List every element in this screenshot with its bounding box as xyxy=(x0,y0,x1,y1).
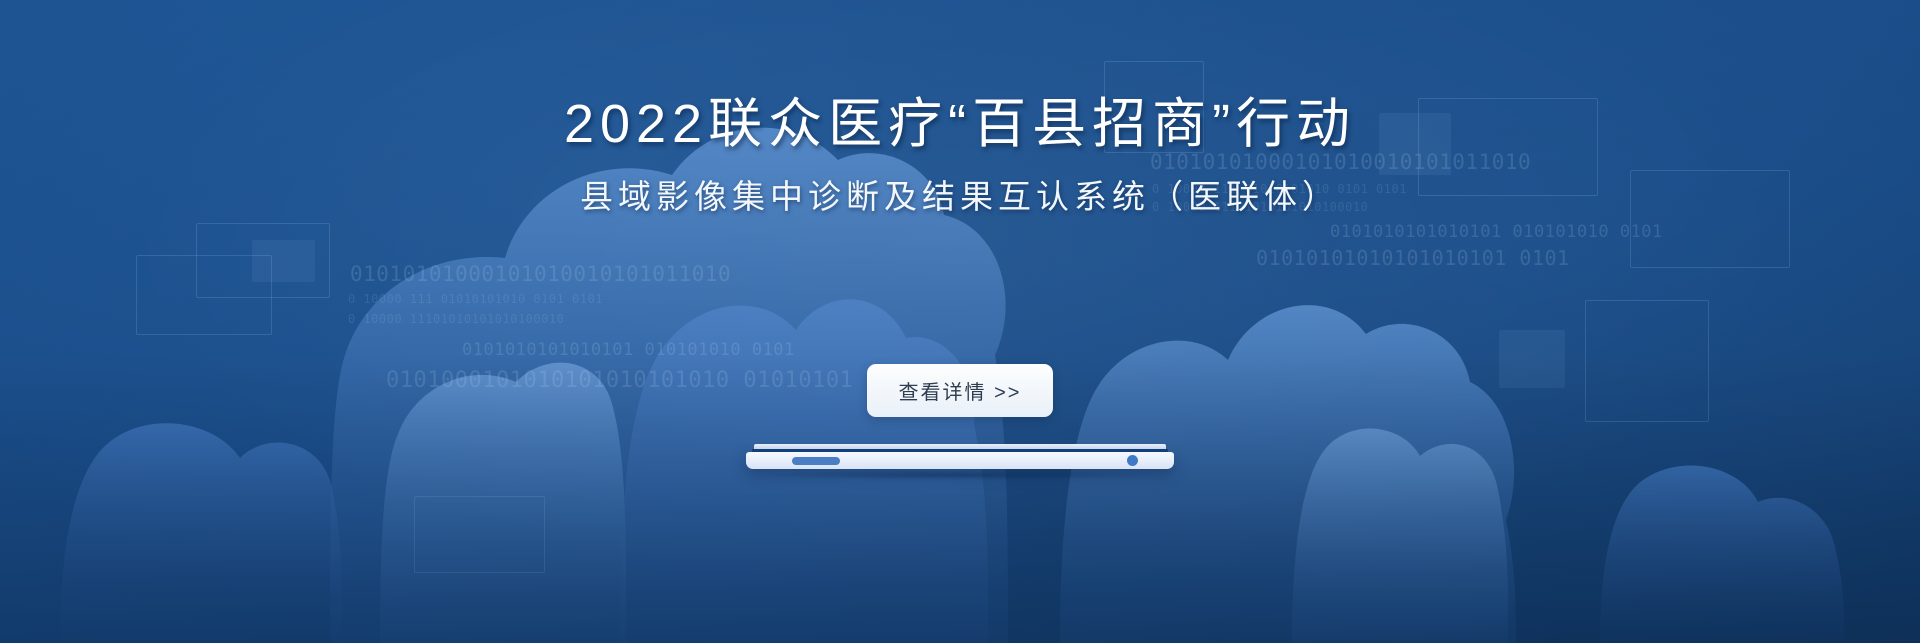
cloud-right-small xyxy=(1292,428,1508,643)
deco-square-left xyxy=(252,240,315,282)
cloud-left-low xyxy=(60,423,342,643)
deco-rect-left-upper xyxy=(196,223,330,298)
binary-decoration-10: 01010101010101010101 0101 xyxy=(1256,246,1570,270)
laptop-indicator-dot xyxy=(1127,455,1138,466)
binary-decoration-2: 0 10000 111 01010101010 0101 0101 xyxy=(348,292,603,306)
binary-decoration-1: 01010101000101010010101011010 xyxy=(350,262,731,286)
laptop-shadow xyxy=(760,470,1160,480)
banner-text-block: 2022联众医疗“百县招商”行动 县域影像集中诊断及结果互认系统（医联体） xyxy=(0,96,1920,215)
binary-decoration-4: 0101010101010101 010101010 0101 xyxy=(462,340,795,360)
laptop-illustration xyxy=(746,444,1174,478)
deco-rect-left-lower xyxy=(136,255,272,335)
binary-decoration-9: 0101010101010101 010101010 0101 xyxy=(1330,222,1663,242)
laptop-indicator-bar xyxy=(792,457,840,465)
cloud-right-low xyxy=(1600,466,1844,643)
binary-decoration-3: 0 10000 11101010101010100010 xyxy=(348,312,564,326)
view-details-button[interactable]: 查看详情 >> xyxy=(867,364,1053,417)
deco-rect-left-bottom xyxy=(414,496,545,573)
hero-banner: 01010101000101010010101011010 0 10000 11… xyxy=(0,0,1920,643)
cta-area: 查看详情 >> xyxy=(0,364,1920,417)
page-subtitle: 县域影像集中诊断及结果互认系统（医联体） xyxy=(0,179,1920,215)
page-title: 2022联众医疗“百县招商”行动 xyxy=(0,96,1920,153)
